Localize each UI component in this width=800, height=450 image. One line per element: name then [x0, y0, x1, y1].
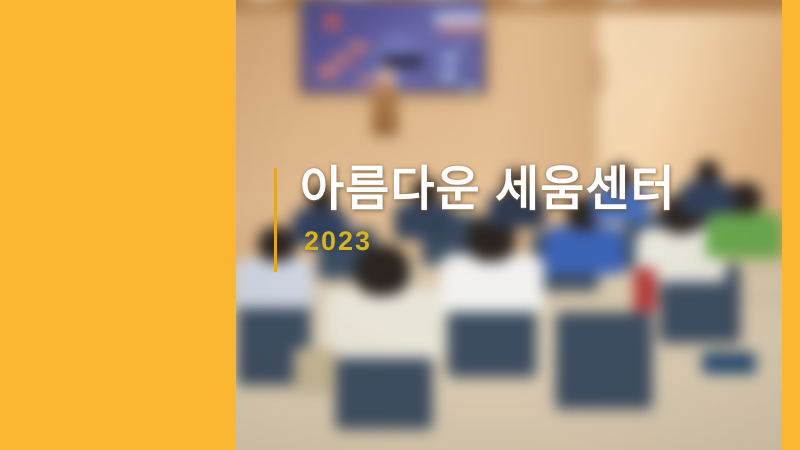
- red-bag: [634, 268, 656, 312]
- audience-member-9-torso: [680, 180, 734, 214]
- slide-canvas: 아름다운 세움센터 2023: [0, 0, 800, 450]
- slide-shape-4: [316, 67, 340, 76]
- podium: [372, 88, 398, 136]
- slide-shape-0: [324, 15, 340, 29]
- audience-member-0-torso: [324, 288, 444, 358]
- audience-member-5-head: [258, 226, 296, 262]
- wall-panel-plate: [588, 56, 604, 92]
- slide-shape-5: [346, 59, 356, 65]
- right-orange-strip: [782, 0, 800, 450]
- slide-shape-12: [464, 83, 477, 90]
- slide-shape-13: [460, 43, 465, 48]
- chair-2: [556, 312, 652, 408]
- hero-photo: [236, 0, 782, 450]
- slide-shape-14: [472, 63, 476, 67]
- audience-member-9-head: [696, 160, 720, 182]
- audience-member-1-torso: [440, 254, 544, 312]
- slide-shape-6: [358, 77, 371, 85]
- left-orange-panel: [0, 0, 236, 450]
- slide-shape-11: [440, 71, 458, 81]
- paper-bag: [294, 348, 336, 394]
- blue-bag: [702, 352, 756, 374]
- slide-shape-2: [348, 43, 368, 51]
- title-year: 2023: [304, 228, 372, 255]
- audience-member-4-torso: [706, 212, 782, 258]
- slide-shape-10: [442, 53, 458, 63]
- photo-scene: [236, 0, 782, 450]
- slide-shape-9: [438, 27, 487, 32]
- title-accent-rule: [274, 168, 277, 272]
- page-title: 아름다운 세움센터: [300, 166, 676, 214]
- audience-member-2-torso: [544, 226, 624, 274]
- slide-shape-8: [434, 15, 487, 23]
